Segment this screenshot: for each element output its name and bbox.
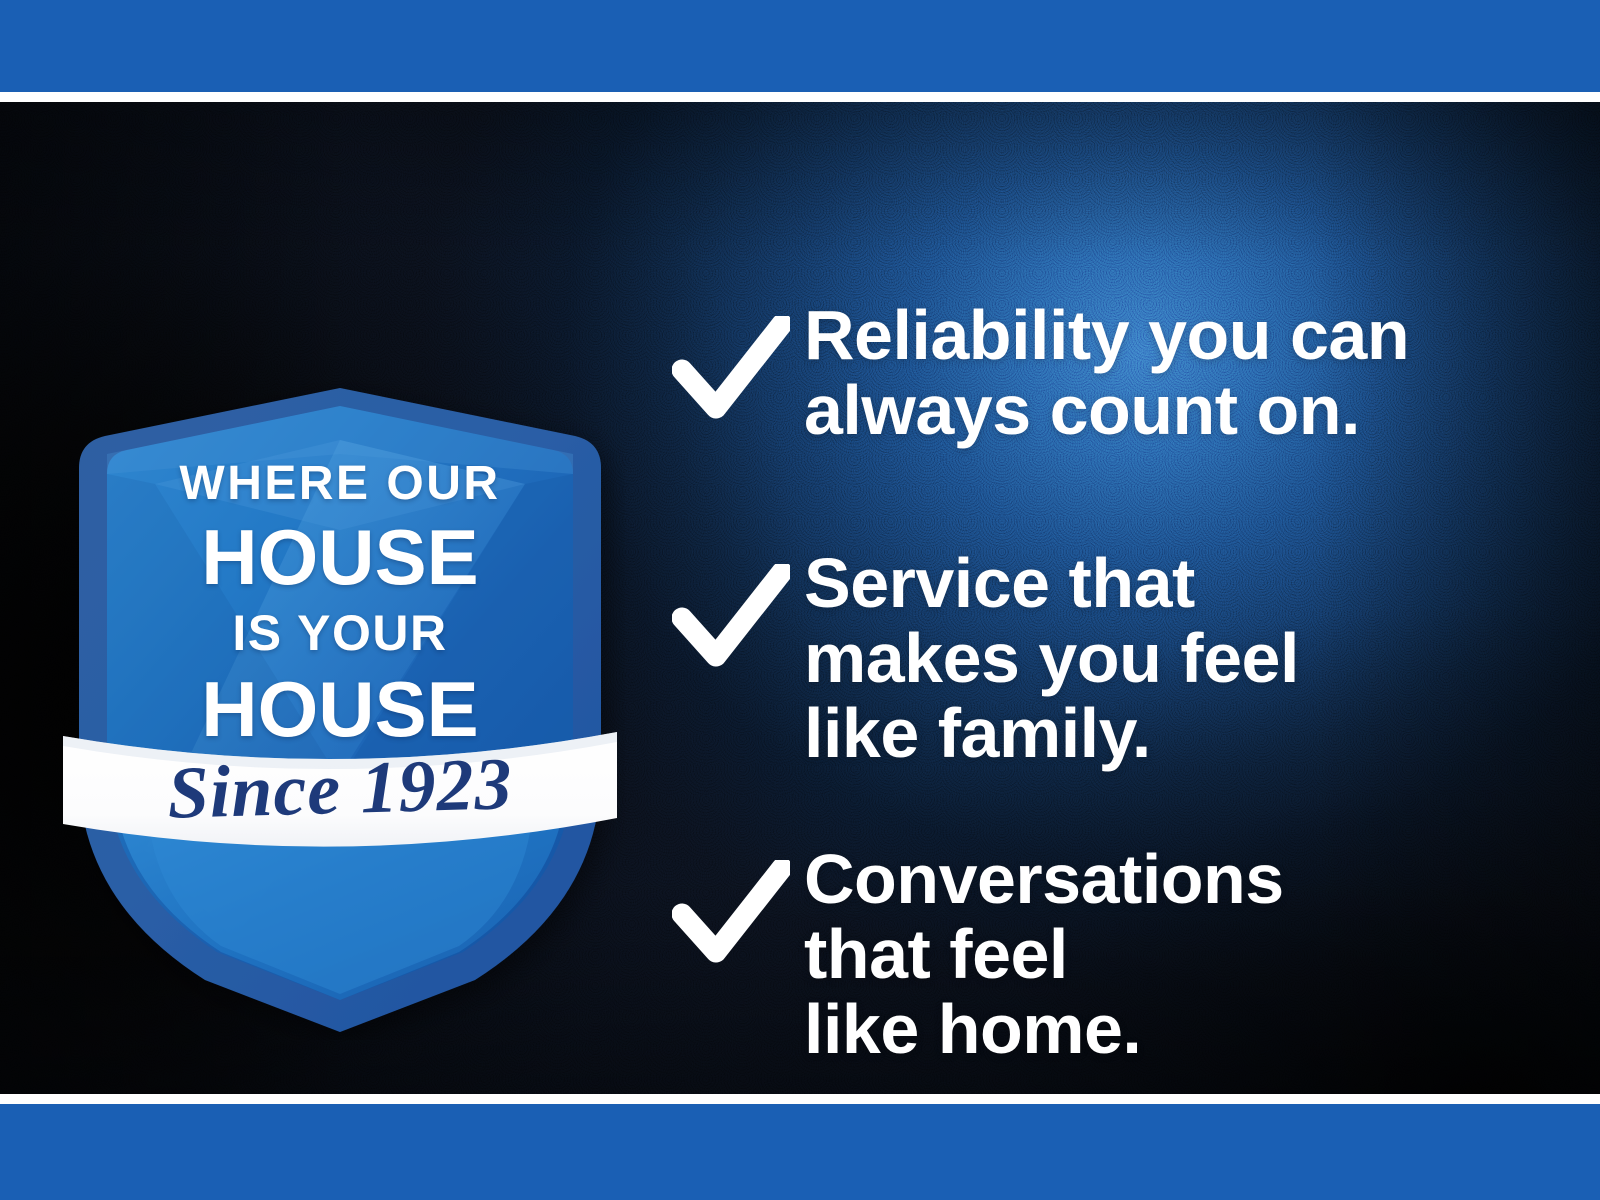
- bottom-brand-bar: [0, 1104, 1600, 1200]
- list-item-text: Reliability you can always count on.: [804, 298, 1502, 448]
- checkmark-icon: [672, 842, 804, 964]
- shield-graphic: [55, 380, 625, 1040]
- list-item: Conversations that feel like home.: [672, 842, 1502, 1067]
- list-item-line: Conversations: [804, 842, 1502, 917]
- list-item-line: like home.: [804, 992, 1502, 1067]
- list-item-text: Service that makes you feel like family.: [804, 546, 1502, 771]
- list-item-line: that feel: [804, 917, 1502, 992]
- checkmark-icon: [672, 298, 804, 420]
- benefits-list: Reliability you can always count on. Ser…: [672, 298, 1502, 1067]
- list-item-text: Conversations that feel like home.: [804, 842, 1502, 1067]
- list-item-line: always count on.: [804, 373, 1502, 448]
- top-brand-bar: [0, 0, 1600, 92]
- company-logo: WHERE OUR HOUSE IS YOUR HOUSE Since 1923: [55, 380, 625, 1040]
- list-item-line: Reliability you can: [804, 298, 1502, 373]
- promo-poster: WHERE OUR HOUSE IS YOUR HOUSE Since 1923…: [0, 0, 1600, 1200]
- list-item-line: Service that: [804, 546, 1502, 621]
- list-item-line: makes you feel: [804, 621, 1502, 696]
- checkmark-icon: [672, 546, 804, 668]
- list-item-line: like family.: [804, 696, 1502, 771]
- list-item: Service that makes you feel like family.: [672, 546, 1502, 771]
- list-item: Reliability you can always count on.: [672, 298, 1502, 448]
- content-panel: WHERE OUR HOUSE IS YOUR HOUSE Since 1923…: [0, 102, 1600, 1094]
